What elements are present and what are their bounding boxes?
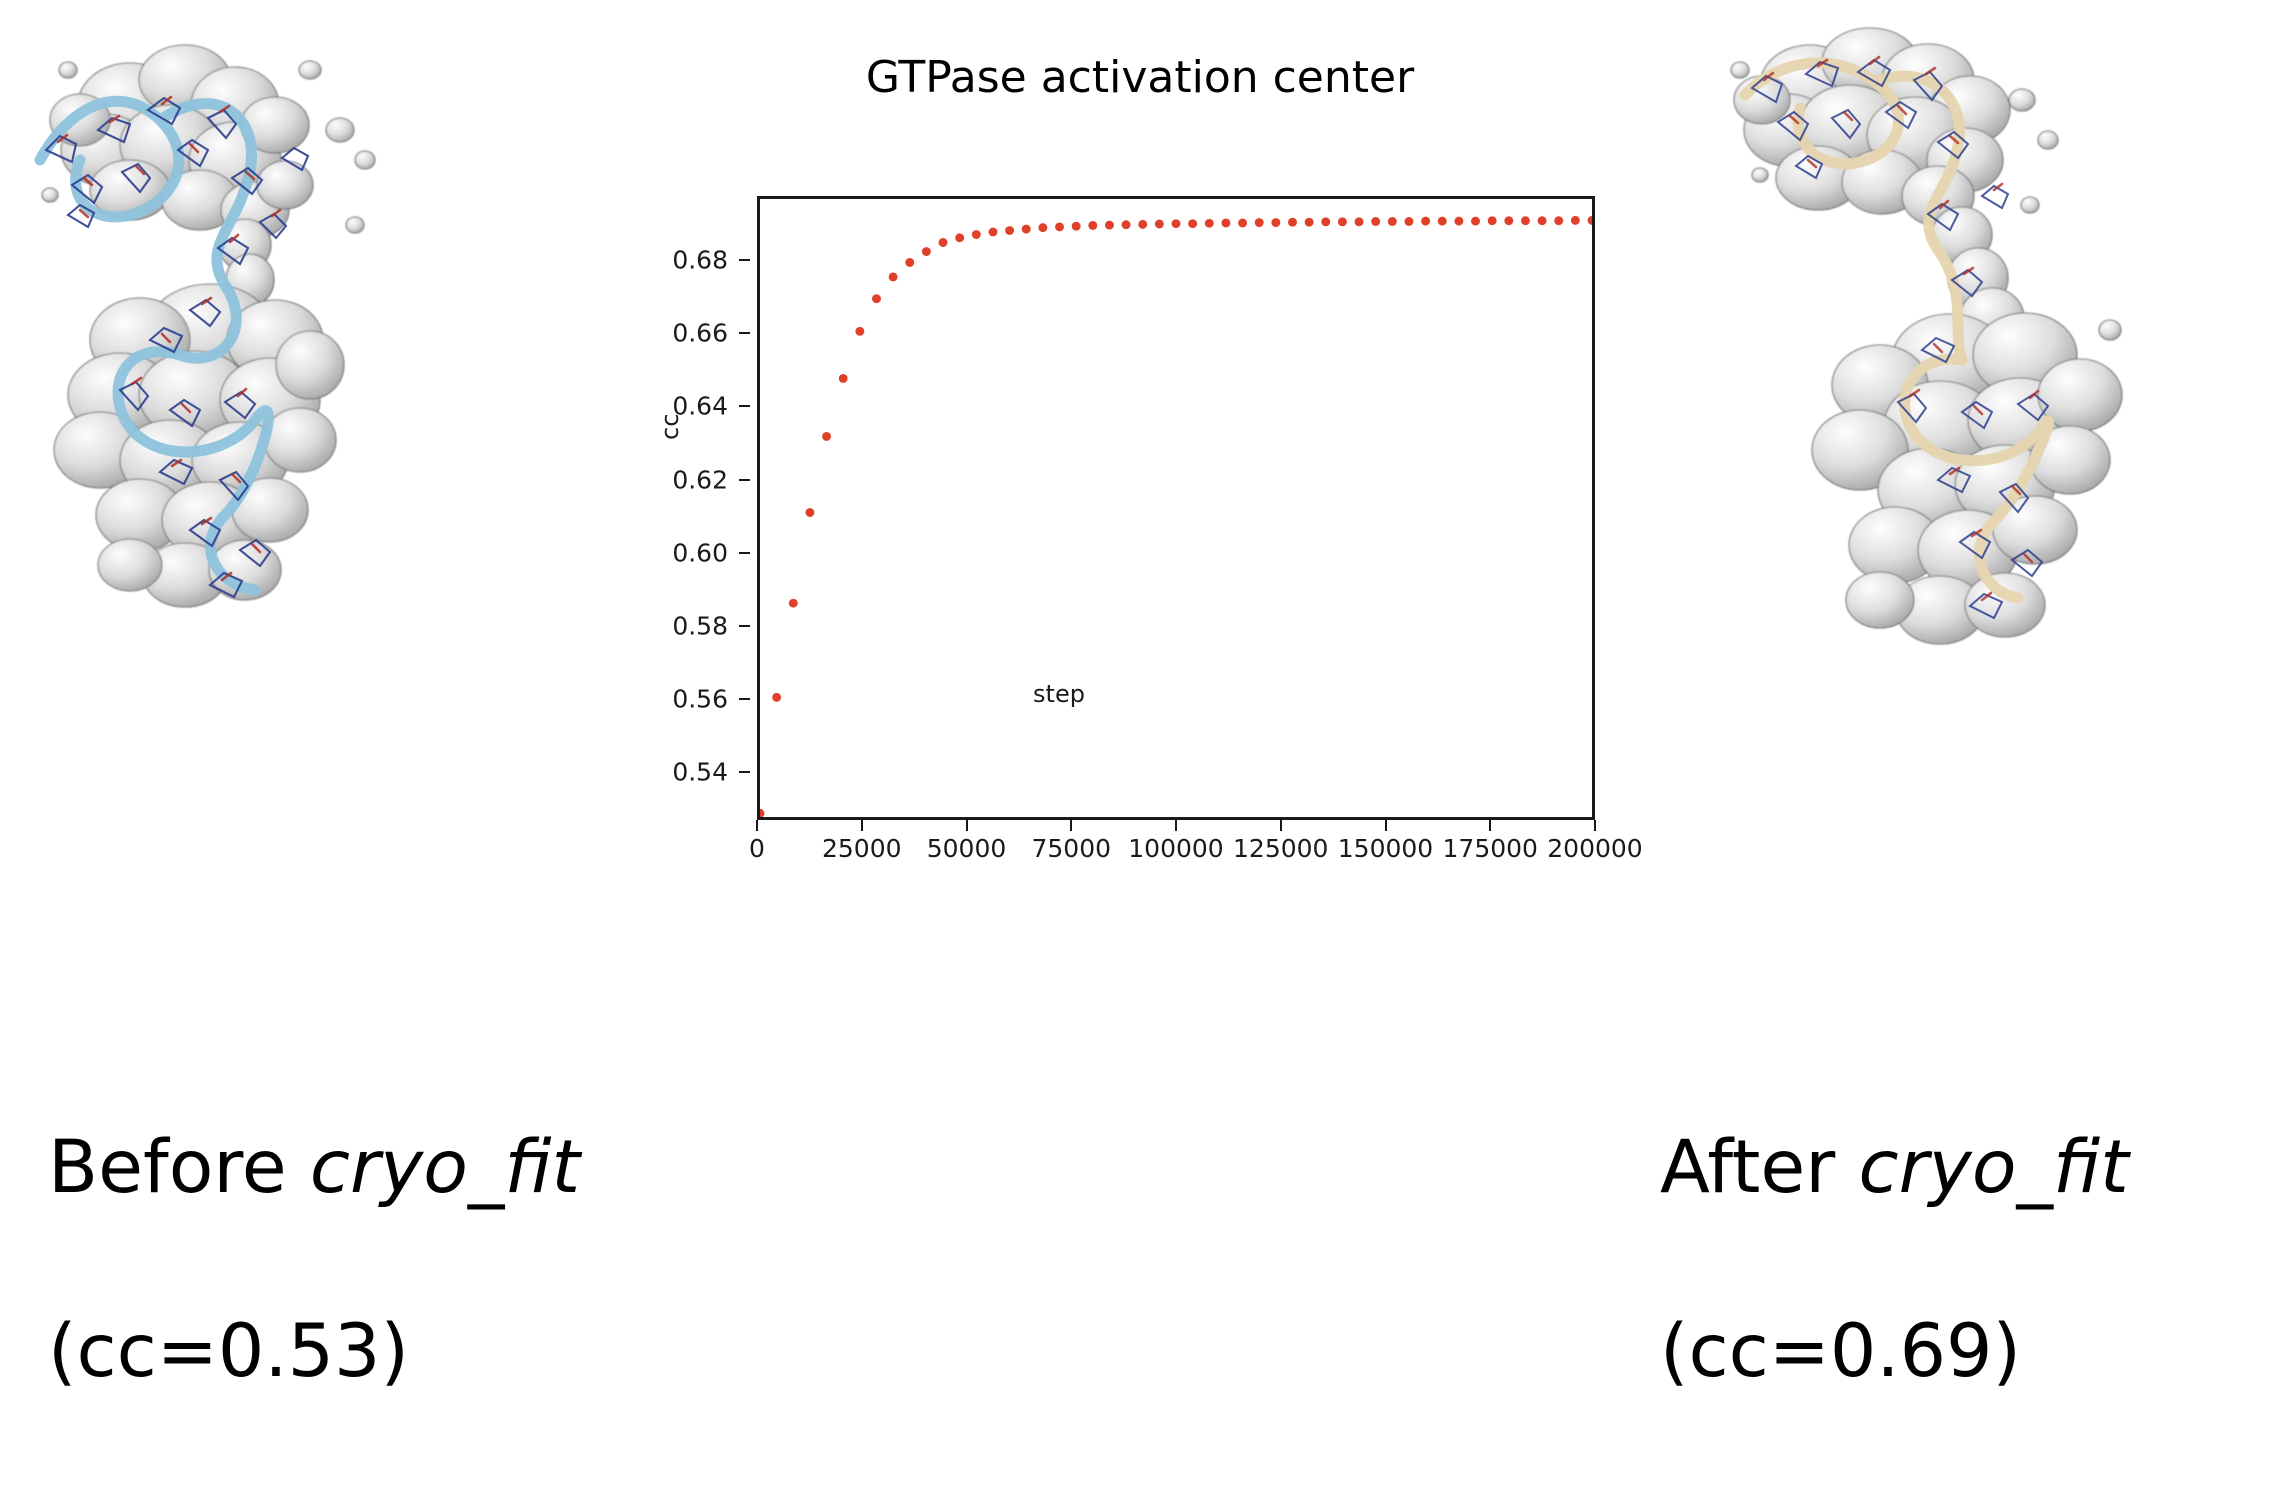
data-point: [1205, 219, 1214, 228]
x-tick-label: 175000: [1443, 834, 1538, 863]
data-point: [1338, 217, 1347, 226]
chart-title: GTPase activation center: [640, 52, 1640, 103]
data-point: [1288, 218, 1297, 227]
data-point: [1454, 217, 1463, 226]
scatter-points-svg: [760, 199, 1592, 817]
data-point: [988, 228, 997, 237]
molecule-image-after: [1700, 0, 2260, 680]
data-point: [955, 233, 964, 242]
data-point: [1122, 220, 1131, 229]
data-point: [1138, 220, 1147, 229]
caption-after-line2: (cc=0.69): [1660, 1306, 2129, 1398]
density-map-before-svg: [10, 10, 550, 650]
x-tick-mark: [1070, 820, 1072, 831]
x-tick-mark: [756, 820, 758, 831]
plot-area: [757, 196, 1595, 820]
data-point: [1521, 216, 1530, 225]
molecule-image-before: [10, 10, 550, 650]
caption-after-tool: cryo_fit: [1859, 1125, 2129, 1210]
y-tick-mark: [739, 259, 750, 261]
caption-before-tool: cryo_fit: [310, 1125, 580, 1210]
y-tick-label: 0.60: [672, 538, 728, 567]
data-point: [1038, 223, 1047, 232]
x-tick-mark: [966, 820, 968, 831]
data-point: [1088, 221, 1097, 230]
y-tick-label: 0.58: [672, 612, 728, 641]
data-point: [1371, 217, 1380, 226]
data-point: [1471, 217, 1480, 226]
data-point: [889, 272, 898, 281]
y-tick-mark: [739, 332, 750, 334]
caption-before-line1: Before cryo_fit: [48, 1122, 580, 1214]
y-tick-label: 0.64: [672, 392, 728, 421]
y-axis-ticks: 0.540.560.580.600.620.640.660.68: [640, 196, 750, 820]
data-point: [1172, 219, 1181, 228]
data-point: [872, 294, 881, 303]
caption-before-line2: (cc=0.53): [48, 1306, 580, 1398]
data-point: [1504, 216, 1513, 225]
data-point: [839, 374, 848, 383]
y-tick-mark: [739, 771, 750, 773]
x-tick-label: 0: [749, 834, 765, 863]
y-tick-mark: [739, 405, 750, 407]
data-point: [1271, 218, 1280, 227]
data-point: [1355, 217, 1364, 226]
data-point: [1571, 216, 1580, 225]
data-point: [1221, 218, 1230, 227]
x-tick-label: 25000: [822, 834, 902, 863]
data-point: [1388, 217, 1397, 226]
data-point: [760, 809, 764, 817]
x-tick-mark: [1385, 820, 1387, 831]
data-point: [1005, 226, 1014, 235]
data-point: [922, 247, 931, 256]
x-tick-label: 125000: [1233, 834, 1328, 863]
data-point: [1022, 225, 1031, 234]
caption-before: Before cryo_fit (cc=0.53): [48, 1030, 580, 1490]
x-tick-label: 100000: [1128, 834, 1223, 863]
data-point: [789, 599, 798, 608]
data-point: [939, 238, 948, 247]
x-tick-label: 75000: [1031, 834, 1111, 863]
data-point: [1055, 222, 1064, 231]
x-tick-mark: [861, 820, 863, 831]
data-point: [1072, 222, 1081, 231]
caption-before-prefix: Before: [48, 1125, 310, 1210]
data-point: [1488, 216, 1497, 225]
data-point: [1155, 220, 1164, 229]
x-tick-label: 50000: [927, 834, 1007, 863]
caption-after-line1: After cryo_fit: [1660, 1122, 2129, 1214]
data-point: [855, 327, 864, 336]
data-point: [1305, 218, 1314, 227]
density-map-after-svg: [1700, 0, 2260, 680]
data-point: [1105, 221, 1114, 230]
data-point: [822, 432, 831, 441]
data-point: [1438, 217, 1447, 226]
data-point: [905, 258, 914, 267]
caption-after: After cryo_fit (cc=0.69): [1660, 1030, 2129, 1490]
data-point: [1238, 218, 1247, 227]
data-point: [1255, 218, 1264, 227]
x-axis-ticks: 0250005000075000100000125000150000175000…: [757, 820, 1595, 880]
cc-convergence-chart: GTPase activation center cc 0.540.560.58…: [640, 20, 1640, 940]
x-tick-label: 150000: [1338, 834, 1433, 863]
y-tick-label: 0.54: [672, 758, 728, 787]
x-tick-mark: [1594, 820, 1596, 831]
data-point: [1321, 217, 1330, 226]
y-tick-label: 0.66: [672, 319, 728, 348]
x-tick-label: 200000: [1547, 834, 1642, 863]
data-point: [972, 230, 981, 239]
data-point: [1421, 217, 1430, 226]
x-tick-mark: [1175, 820, 1177, 831]
data-point: [805, 508, 814, 517]
y-tick-label: 0.68: [672, 246, 728, 275]
x-tick-mark: [1280, 820, 1282, 831]
y-tick-mark: [739, 552, 750, 554]
x-axis-label: step: [640, 680, 1478, 708]
y-tick-label: 0.62: [672, 465, 728, 494]
data-point: [1554, 216, 1563, 225]
x-tick-mark: [1489, 820, 1491, 831]
data-point: [1588, 216, 1592, 225]
data-point: [1188, 219, 1197, 228]
data-point: [1404, 217, 1413, 226]
caption-after-prefix: After: [1660, 1125, 1859, 1210]
data-point: [1538, 216, 1547, 225]
y-tick-mark: [739, 479, 750, 481]
y-tick-mark: [739, 625, 750, 627]
